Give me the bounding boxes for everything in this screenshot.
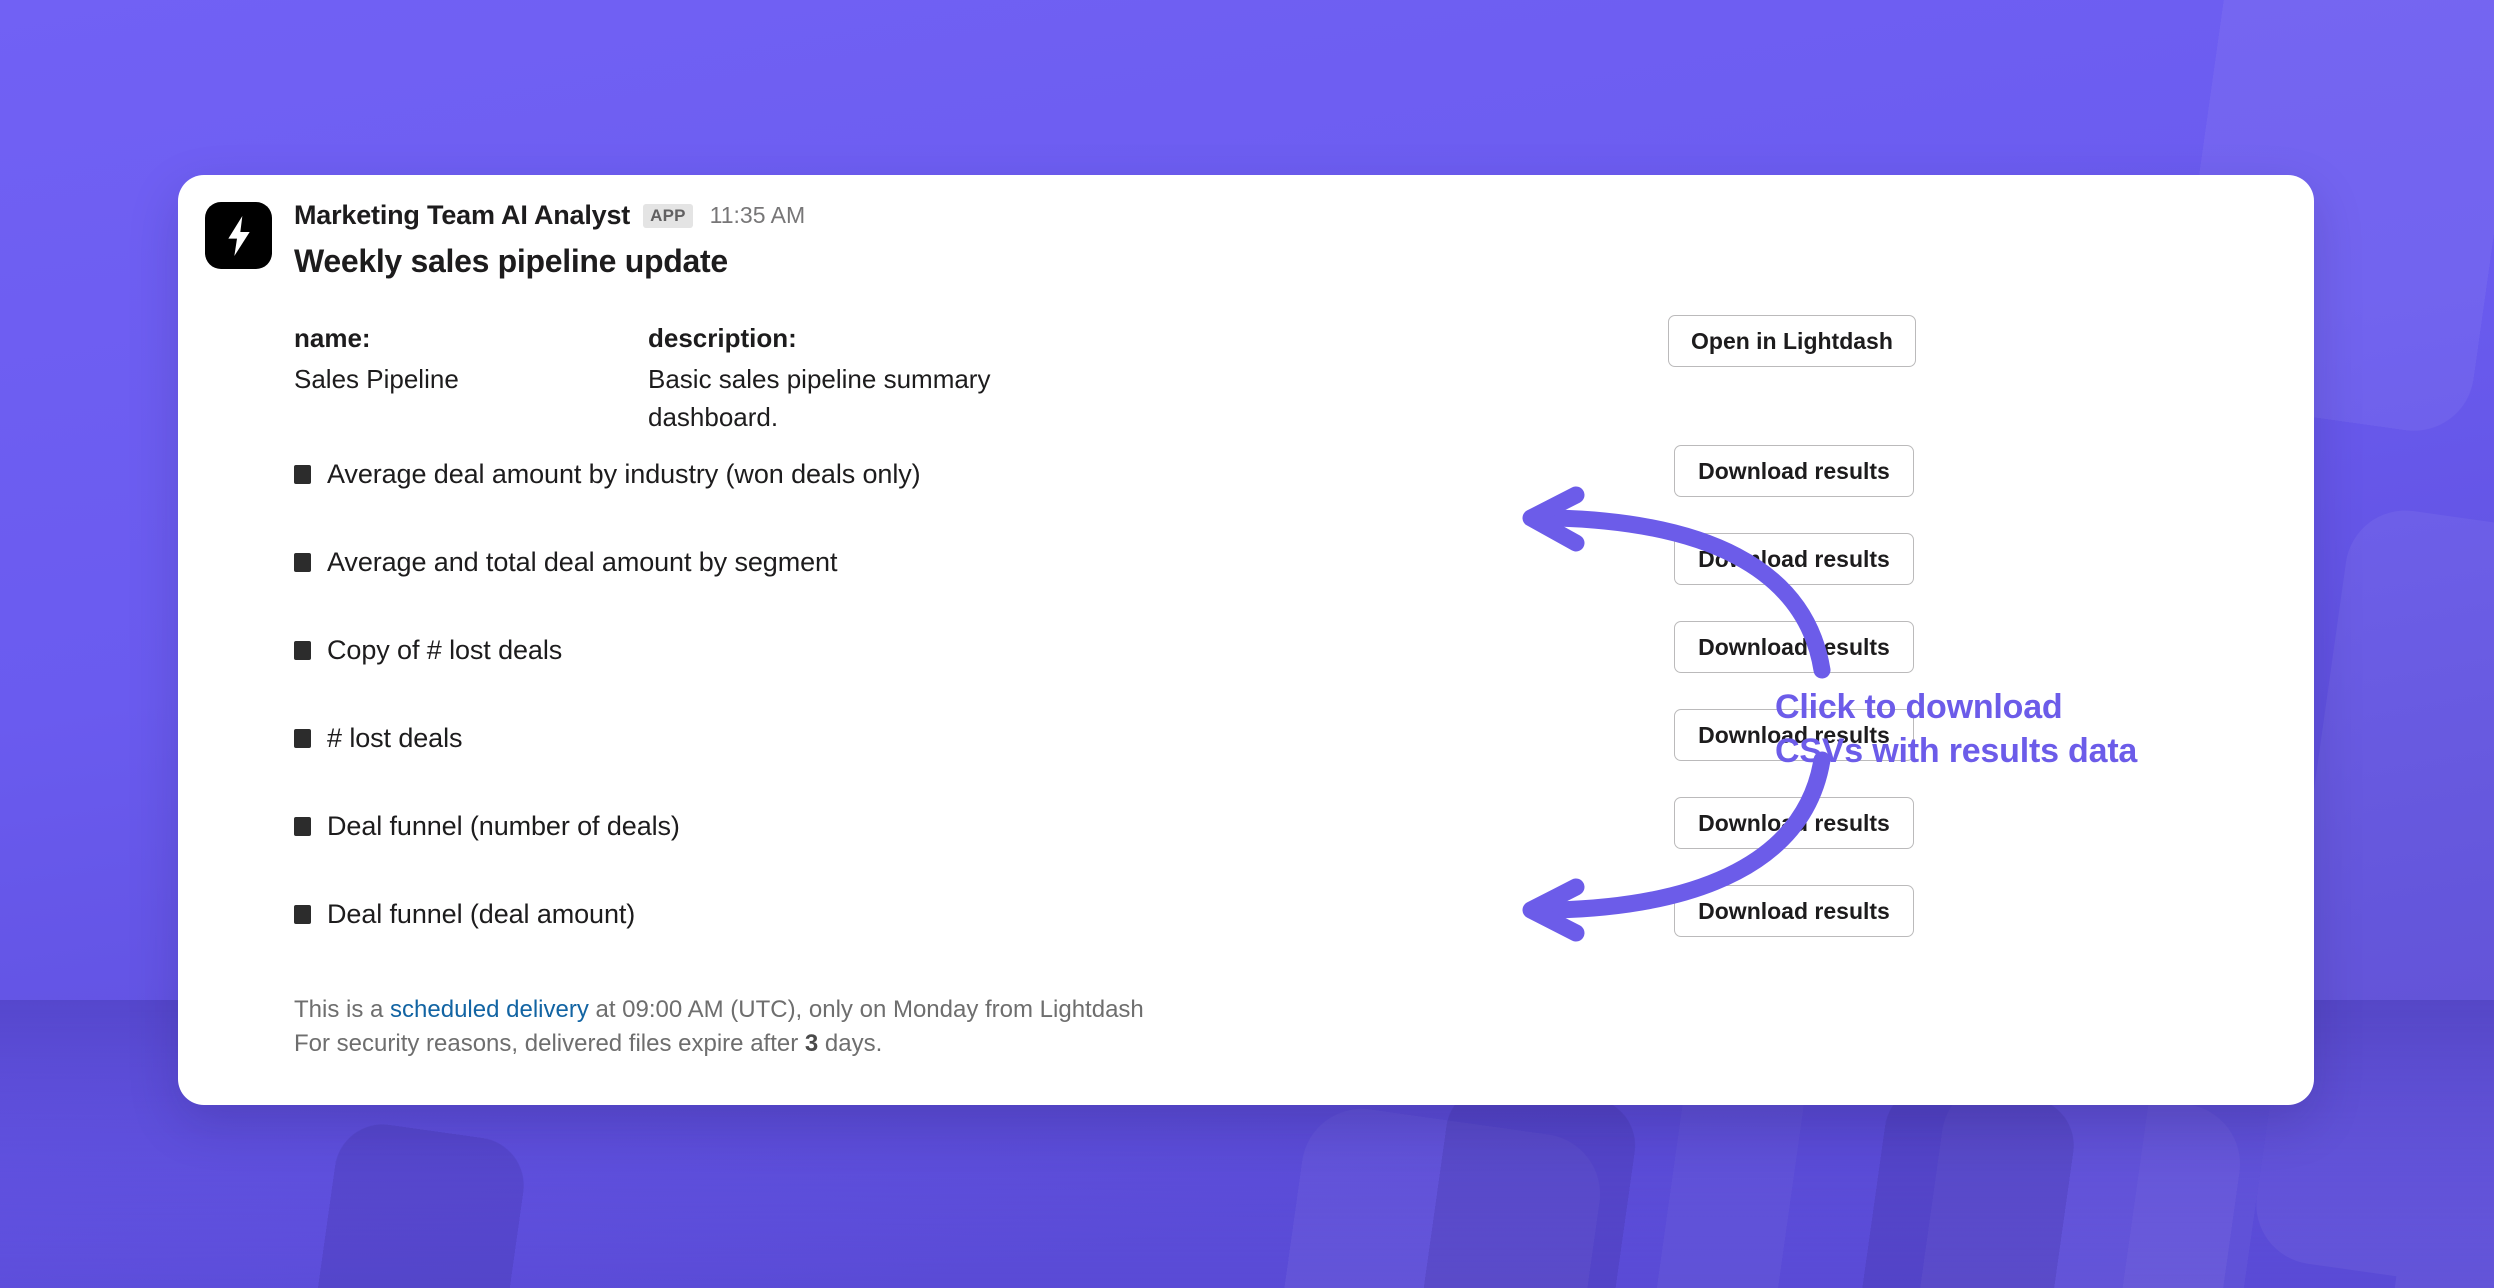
list-item-label: Deal funnel (deal amount)	[294, 899, 635, 930]
square-bullet-icon	[294, 905, 311, 924]
message-timestamp: 11:35 AM	[706, 202, 805, 229]
square-bullet-icon	[294, 465, 311, 484]
results-list: Average deal amount by industry (won dea…	[178, 445, 2314, 973]
square-bullet-icon	[294, 729, 311, 748]
list-item-title: Deal funnel (number of deals)	[327, 811, 680, 842]
lightning-bolt-icon	[205, 202, 272, 269]
square-bullet-icon	[294, 817, 311, 836]
page-title: Weekly sales pipeline update	[294, 243, 728, 280]
list-item-label: Average and total deal amount by segment	[294, 547, 837, 578]
list-item-label: Average deal amount by industry (won dea…	[294, 459, 921, 490]
square-bullet-icon	[294, 553, 311, 572]
download-results-button[interactable]: Download results	[1674, 797, 1914, 849]
field-description: description: Basic sales pipeline summar…	[648, 321, 1068, 436]
list-item-label: Deal funnel (number of deals)	[294, 811, 680, 842]
download-results-button[interactable]: Download results	[1674, 621, 1914, 673]
list-item: Deal funnel (deal amount)Download result…	[178, 885, 2314, 973]
list-item-label: # lost deals	[294, 723, 462, 754]
field-description-label: description:	[648, 321, 1068, 356]
footer-note: This is a scheduled delivery at 09:00 AM…	[294, 993, 1144, 1061]
footer-line1-suffix: at 09:00 AM (UTC), only on Monday from L…	[589, 996, 1144, 1023]
list-item: Copy of # lost dealsDownload results	[178, 621, 2314, 709]
list-item-title: Copy of # lost deals	[327, 635, 562, 666]
app-name: Marketing Team AI Analyst	[294, 200, 630, 231]
scheduled-delivery-link[interactable]: scheduled delivery	[390, 996, 589, 1023]
list-item-title: Average deal amount by industry (won dea…	[327, 459, 921, 490]
message-header: Marketing Team AI Analyst APP 11:35 AM	[294, 200, 805, 231]
slack-message-card: Marketing Team AI Analyst APP 11:35 AM W…	[178, 175, 2314, 1105]
open-in-lightdash-button[interactable]: Open in Lightdash	[1668, 315, 1916, 367]
list-item-title: Deal funnel (deal amount)	[327, 899, 635, 930]
footer-line-2: For security reasons, delivered files ex…	[294, 1027, 1144, 1061]
field-name-value: Sales Pipeline	[294, 361, 594, 399]
list-item: Deal funnel (number of deals)Download re…	[178, 797, 2314, 885]
list-item-label: Copy of # lost deals	[294, 635, 562, 666]
list-item-title: # lost deals	[327, 723, 462, 754]
list-item-title: Average and total deal amount by segment	[327, 547, 837, 578]
list-item: Average deal amount by industry (won dea…	[178, 445, 2314, 533]
field-description-value: Basic sales pipeline summary dashboard.	[648, 361, 1068, 436]
square-bullet-icon	[294, 641, 311, 660]
footer-line2-suffix: days.	[818, 1030, 882, 1057]
field-name: name: Sales Pipeline	[294, 321, 594, 399]
list-item: Average and total deal amount by segment…	[178, 533, 2314, 621]
list-item: # lost dealsDownload results	[178, 709, 2314, 797]
download-results-button[interactable]: Download results	[1674, 533, 1914, 585]
footer-line-1: This is a scheduled delivery at 09:00 AM…	[294, 993, 1144, 1027]
footer-line1-prefix: This is a	[294, 996, 390, 1023]
lightning-bolt-glyph	[222, 216, 256, 256]
download-results-button[interactable]: Download results	[1674, 445, 1914, 497]
download-results-button[interactable]: Download results	[1674, 709, 1914, 761]
app-badge: APP	[643, 204, 693, 228]
footer-expiry-days: 3	[805, 1030, 818, 1057]
field-name-label: name:	[294, 321, 594, 356]
footer-line2-prefix: For security reasons, delivered files ex…	[294, 1030, 805, 1057]
download-results-button[interactable]: Download results	[1674, 885, 1914, 937]
